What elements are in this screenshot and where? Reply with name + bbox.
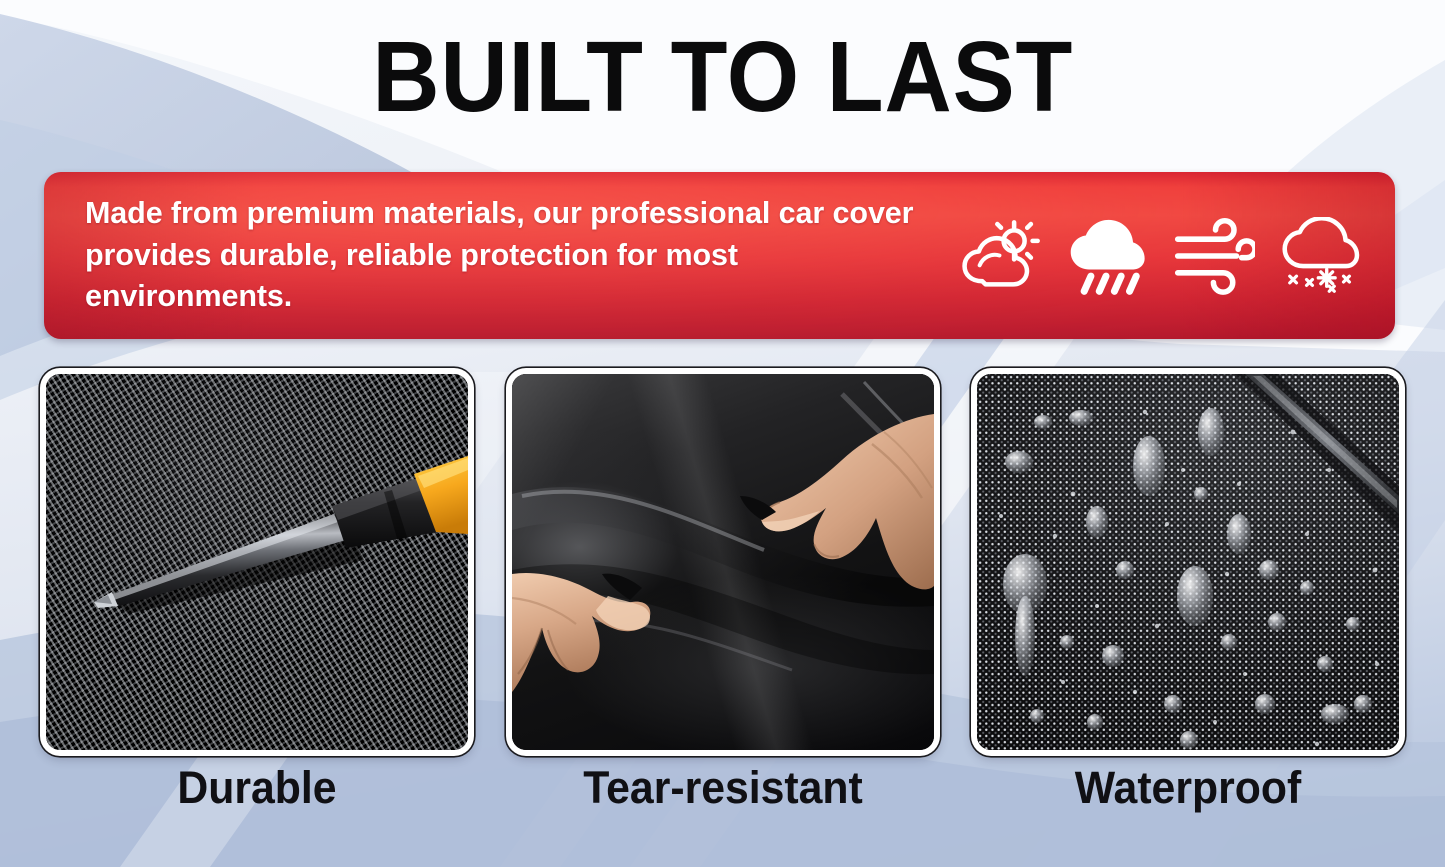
feature-image-panel-waterproof (971, 368, 1405, 756)
sun-behind-cloud-icon (957, 217, 1041, 295)
feature-label-waterproof: Waterproof (982, 762, 1394, 814)
hands-stretching-fabric-photo (512, 374, 934, 750)
feature-label-tear-resistant: Tear-resistant (516, 762, 928, 814)
feature-image-panel-tear-resistant (506, 368, 940, 756)
feature-captions: Durable Tear-resistant Waterproof (40, 762, 1405, 814)
rain-cloud-icon (1064, 217, 1148, 295)
screwdriver-illustration (46, 374, 468, 750)
description-banner: Made from premium materials, our profess… (44, 172, 1395, 339)
hands-illustration (512, 374, 934, 750)
built-to-last-infographic: BUILT TO LAST Made from premium material… (0, 0, 1445, 867)
feature-image-panel-durable (40, 368, 474, 756)
page-title: BUILT TO LAST (372, 26, 1073, 128)
feature-label-durable: Durable (51, 762, 463, 814)
screwdriver-on-woven-fabric-photo (46, 374, 468, 750)
water-droplets-illustration (977, 374, 1399, 750)
feature-panels (40, 368, 1405, 756)
banner-description-text: Made from premium materials, our profess… (85, 193, 940, 317)
snow-cloud-icon (1278, 217, 1362, 295)
headline-container: BUILT TO LAST (0, 26, 1445, 128)
water-beading-fabric-photo (977, 374, 1399, 750)
weather-icon-row (940, 217, 1395, 295)
wind-icon (1171, 217, 1255, 295)
